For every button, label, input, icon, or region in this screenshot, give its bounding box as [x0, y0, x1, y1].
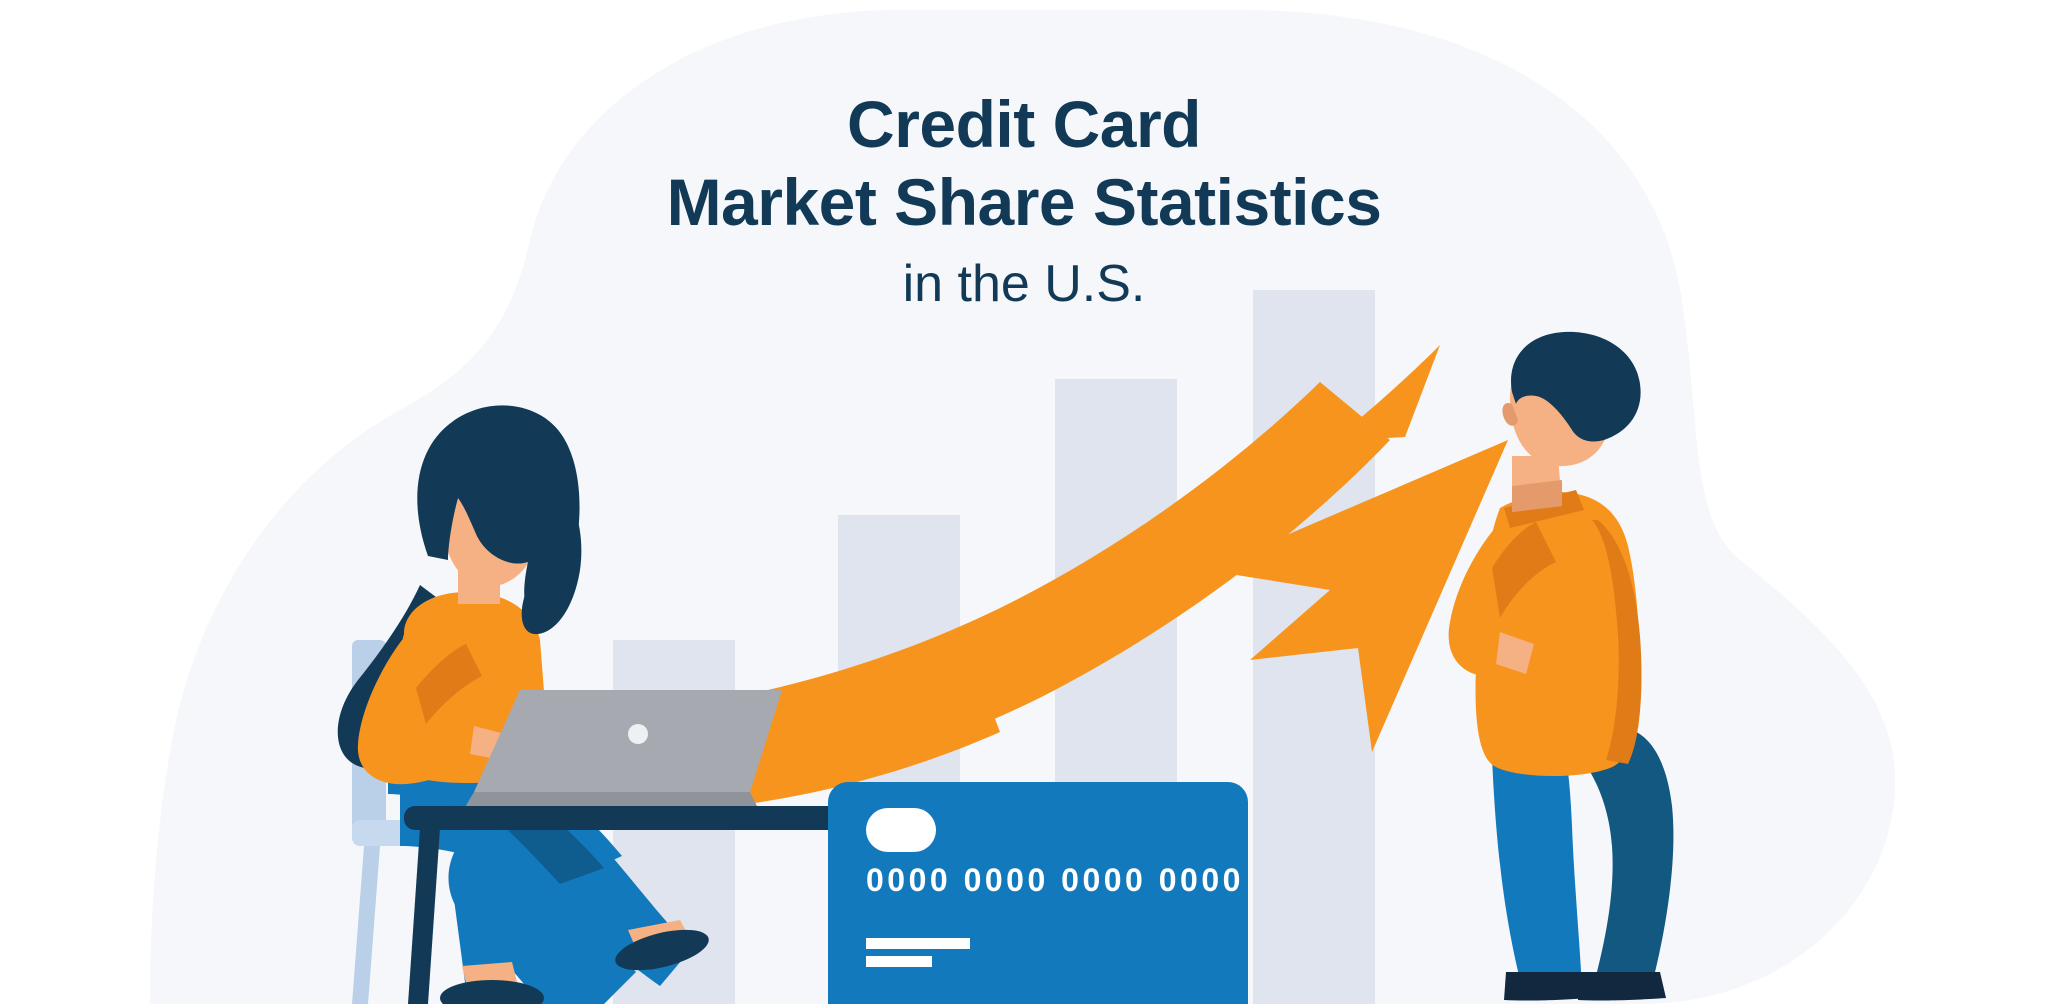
credit-card-line-short — [866, 956, 932, 967]
credit-card-number: 0000 0000 0000 0000 — [866, 862, 1244, 899]
hero-illustration — [0, 0, 2048, 1004]
man-shoe-front — [1504, 972, 1590, 1001]
man-shoe-back — [1578, 972, 1666, 1001]
credit-card-chip — [866, 808, 936, 852]
laptop-screen — [474, 690, 782, 792]
hero-banner: Credit Card Market Share Statistics in t… — [0, 0, 2048, 1004]
laptop-logo — [628, 724, 648, 744]
credit-card-line-long — [866, 938, 970, 949]
